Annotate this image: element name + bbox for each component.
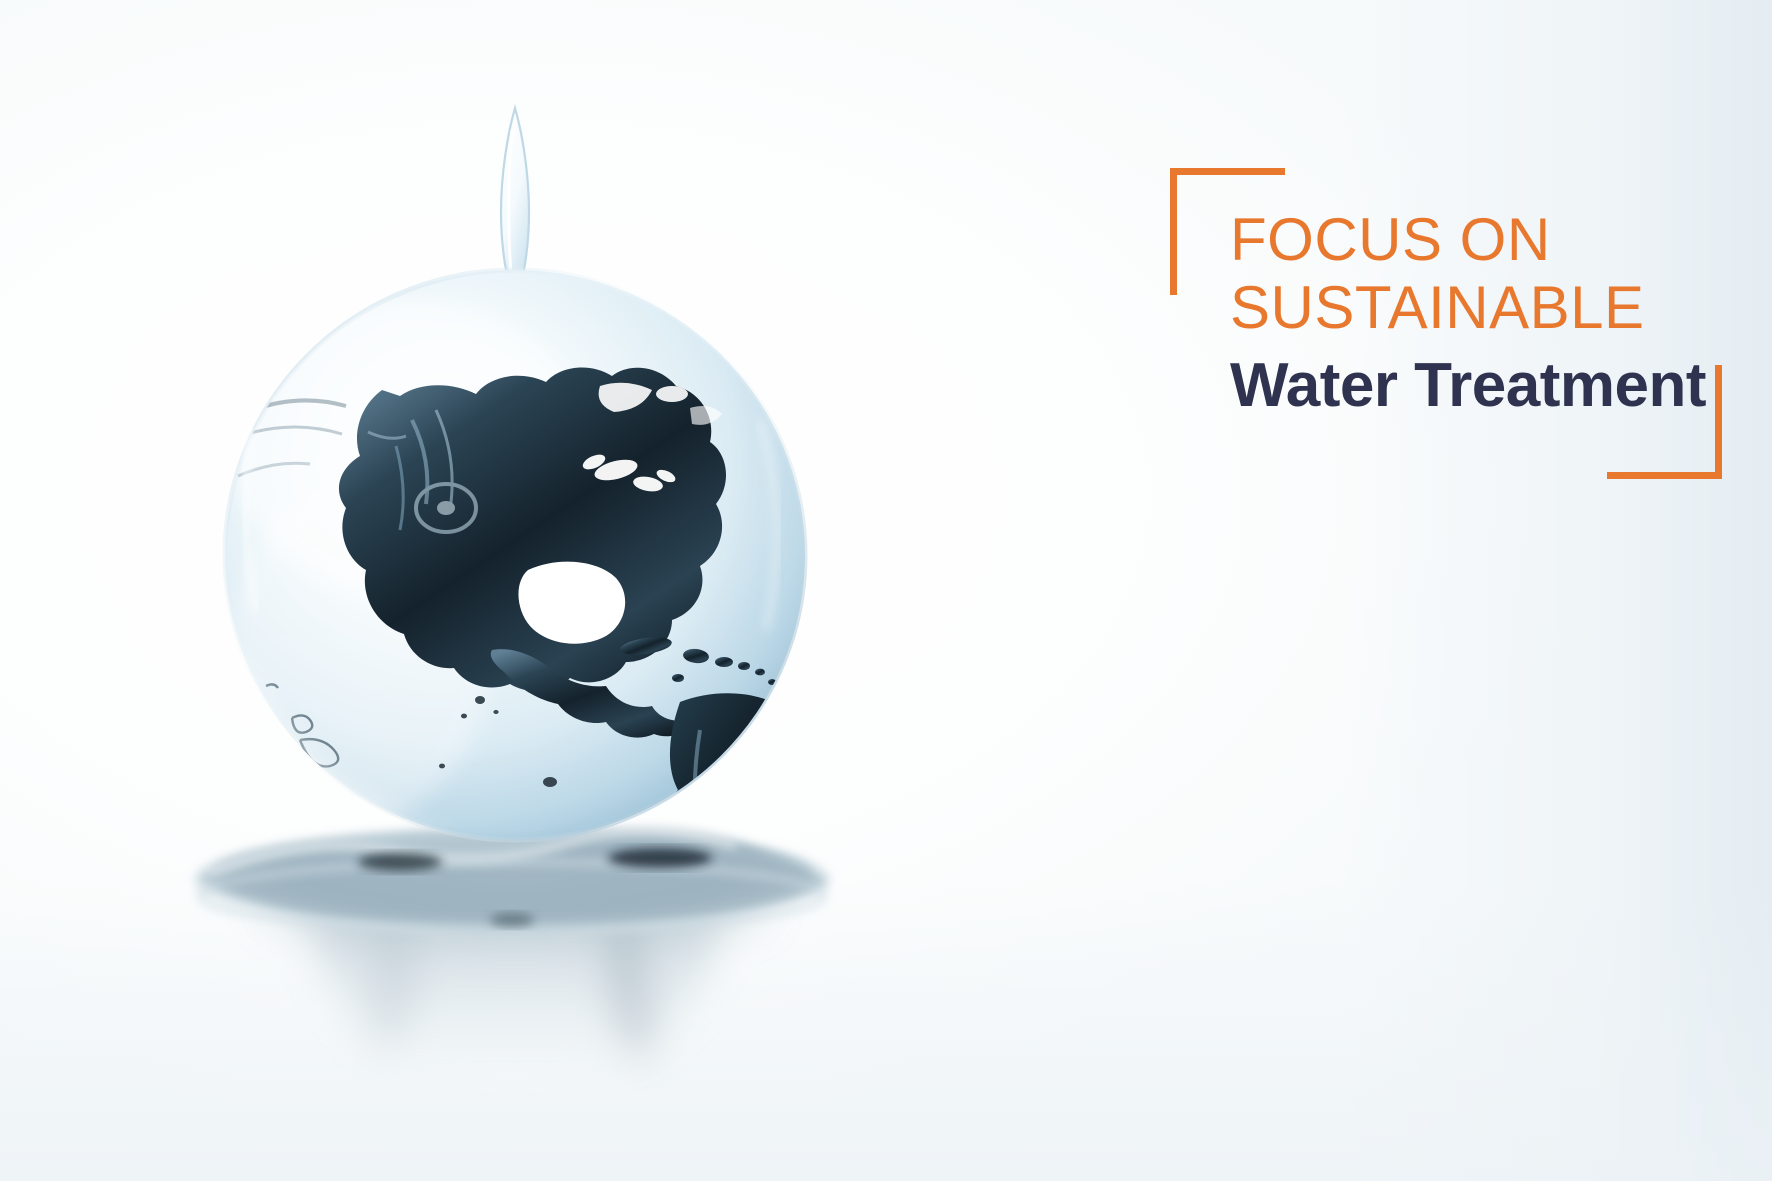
banner-root: FOCUS ON SUSTAINABLE Water Treatment (0, 0, 1772, 1181)
headline-eyebrow-line-2: SUSTAINABLE (1230, 274, 1750, 342)
water-ripple-ring (194, 828, 830, 932)
water-drop-globe-artwork (60, 90, 1060, 1090)
headline-title: Water Treatment (1230, 350, 1750, 422)
headline-text-group: FOCUS ON SUSTAINABLE Water Treatment (1230, 206, 1750, 422)
headline-eyebrow-line-1: FOCUS ON (1230, 206, 1750, 274)
headline-block: FOCUS ON SUSTAINABLE Water Treatment (1170, 168, 1730, 488)
